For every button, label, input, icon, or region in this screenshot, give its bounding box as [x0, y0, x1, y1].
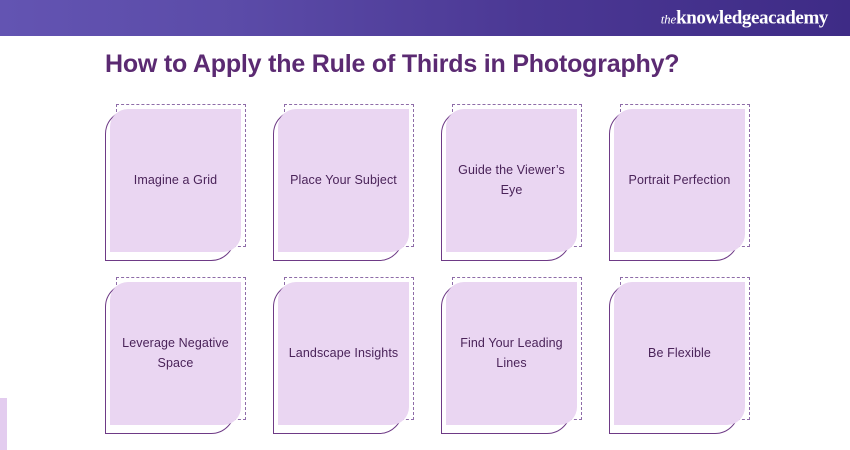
card-place-your-subject[interactable]: Place Your Subject — [273, 104, 414, 261]
card-landscape-insights[interactable]: Landscape Insights — [273, 277, 414, 434]
page-title: How to Apply the Rule of Thirds in Photo… — [105, 50, 679, 79]
bottom-left-accent-bar — [0, 398, 7, 450]
card-body: Be Flexible — [614, 282, 745, 425]
card-label: Find Your Leading Lines — [454, 334, 569, 373]
card-label: Leverage Negative Space — [118, 334, 233, 373]
card-row-2: Leverage Negative Space Landscape Insigh… — [105, 277, 753, 434]
card-label: Imagine a Grid — [134, 171, 217, 190]
card-body: Find Your Leading Lines — [446, 282, 577, 425]
card-label: Place Your Subject — [290, 171, 397, 190]
card-body: Portrait Perfection — [614, 109, 745, 252]
card-label: Be Flexible — [648, 344, 711, 363]
card-imagine-a-grid[interactable]: Imagine a Grid — [105, 104, 246, 261]
brand-logo-name: knowledgeacademy — [676, 8, 828, 29]
card-portrait-perfection[interactable]: Portrait Perfection — [609, 104, 750, 261]
card-body: Leverage Negative Space — [110, 282, 241, 425]
header-bar: theknowledgeacademy — [0, 0, 850, 36]
card-body: Place Your Subject — [278, 109, 409, 252]
card-guide-the-viewers-eye[interactable]: Guide the Viewer’s Eye — [441, 104, 582, 261]
card-label: Landscape Insights — [289, 344, 399, 363]
card-find-your-leading-lines[interactable]: Find Your Leading Lines — [441, 277, 582, 434]
card-body: Imagine a Grid — [110, 109, 241, 252]
card-be-flexible[interactable]: Be Flexible — [609, 277, 750, 434]
card-body: Landscape Insights — [278, 282, 409, 425]
brand-logo: theknowledgeacademy — [661, 9, 828, 28]
card-grid: Imagine a Grid Place Your Subject Guide … — [105, 104, 753, 434]
brand-logo-the: the — [661, 12, 676, 27]
card-body: Guide the Viewer’s Eye — [446, 109, 577, 252]
card-row-1: Imagine a Grid Place Your Subject Guide … — [105, 104, 753, 261]
card-leverage-negative-space[interactable]: Leverage Negative Space — [105, 277, 246, 434]
card-label: Guide the Viewer’s Eye — [454, 161, 569, 200]
card-label: Portrait Perfection — [629, 171, 731, 190]
infographic-page: theknowledgeacademy How to Apply the Rul… — [0, 0, 850, 450]
